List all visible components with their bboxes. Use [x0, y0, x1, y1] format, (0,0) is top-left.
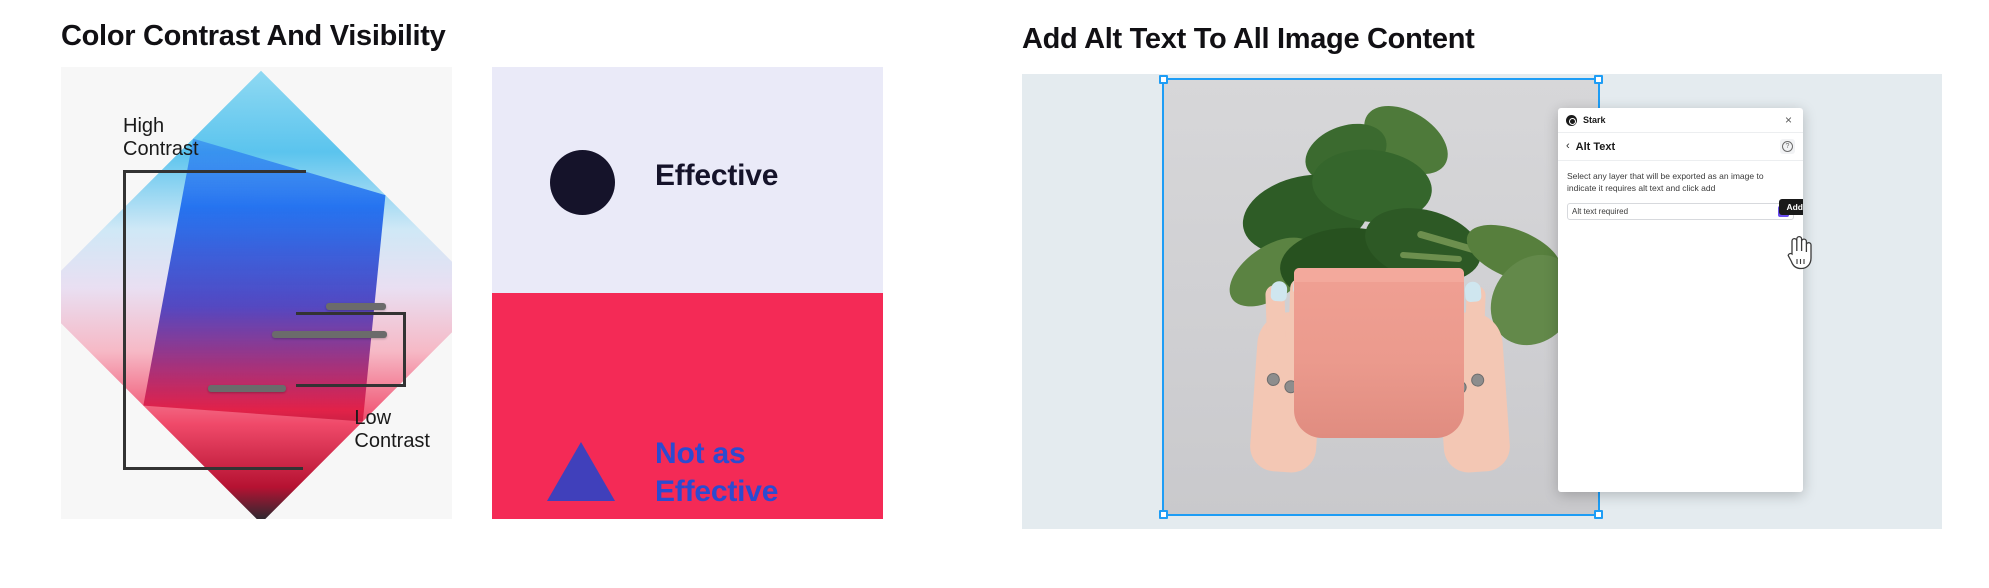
triangle-icon: [547, 442, 615, 501]
back-chevron-icon[interactable]: ‹: [1566, 141, 1570, 152]
stark-logo-icon: [1566, 115, 1577, 126]
alt-text-input-value: Alt text required: [1572, 207, 1628, 216]
plugin-titlebar: Stark ×: [1558, 108, 1803, 133]
image-artboard[interactable]: [1164, 80, 1598, 514]
ring-icon: [1471, 373, 1485, 387]
page-title-color-contrast: Color Contrast And Visibility: [61, 20, 445, 53]
low-contrast-frame: [296, 312, 406, 387]
alt-text-input[interactable]: Alt text required ◉: [1567, 203, 1794, 220]
effective-label: Effective: [655, 159, 778, 193]
contrast-bar-low-left: [208, 385, 286, 392]
contrast-bar-low-upper: [326, 303, 386, 310]
add-button[interactable]: Add: [1779, 199, 1803, 215]
fingernail: [1270, 281, 1287, 302]
effectiveness-demo-card: Effective Not as Effective: [492, 67, 883, 519]
ring-icon: [1266, 373, 1280, 387]
instruction-text: Select any layer that will be exported a…: [1567, 170, 1794, 194]
stark-plugin-panel[interactable]: Stark × ‹ Alt Text ? Select any layer th…: [1558, 108, 1803, 492]
close-icon[interactable]: ×: [1782, 112, 1795, 128]
low-contrast-label: Low Contrast: [354, 407, 430, 453]
not-effective-label: Not as Effective: [655, 435, 778, 511]
plugin-name: Stark: [1583, 115, 1606, 125]
plugin-body: Select any layer that will be exported a…: [1558, 161, 1803, 220]
figma-canvas[interactable]: 700 × 700: [1022, 74, 1942, 529]
help-button[interactable]: ?: [1780, 139, 1795, 154]
high-contrast-label: High Contrast: [123, 115, 199, 161]
page-title-alt-text: Add Alt Text To All Image Content: [1022, 23, 1474, 56]
plugin-screen-title: Alt Text: [1576, 141, 1616, 153]
plant-pot-rim: [1294, 268, 1464, 282]
alt-text-row: Alt text required ◉ Add: [1567, 203, 1794, 220]
contrast-demo-card: High Contrast Low Contrast: [61, 67, 452, 519]
fingernail: [1464, 281, 1481, 302]
help-icon: ?: [1782, 141, 1793, 152]
contrast-bar-low-middle: [272, 331, 387, 338]
plugin-subheader: ‹ Alt Text ?: [1558, 133, 1803, 161]
plant-pot: [1294, 268, 1464, 438]
circle-icon: [550, 150, 615, 215]
page-root: Color Contrast And Visibility High Contr…: [0, 0, 1989, 588]
left-section: Color Contrast And Visibility High Contr…: [0, 0, 900, 588]
high-contrast-frame: [123, 170, 303, 470]
